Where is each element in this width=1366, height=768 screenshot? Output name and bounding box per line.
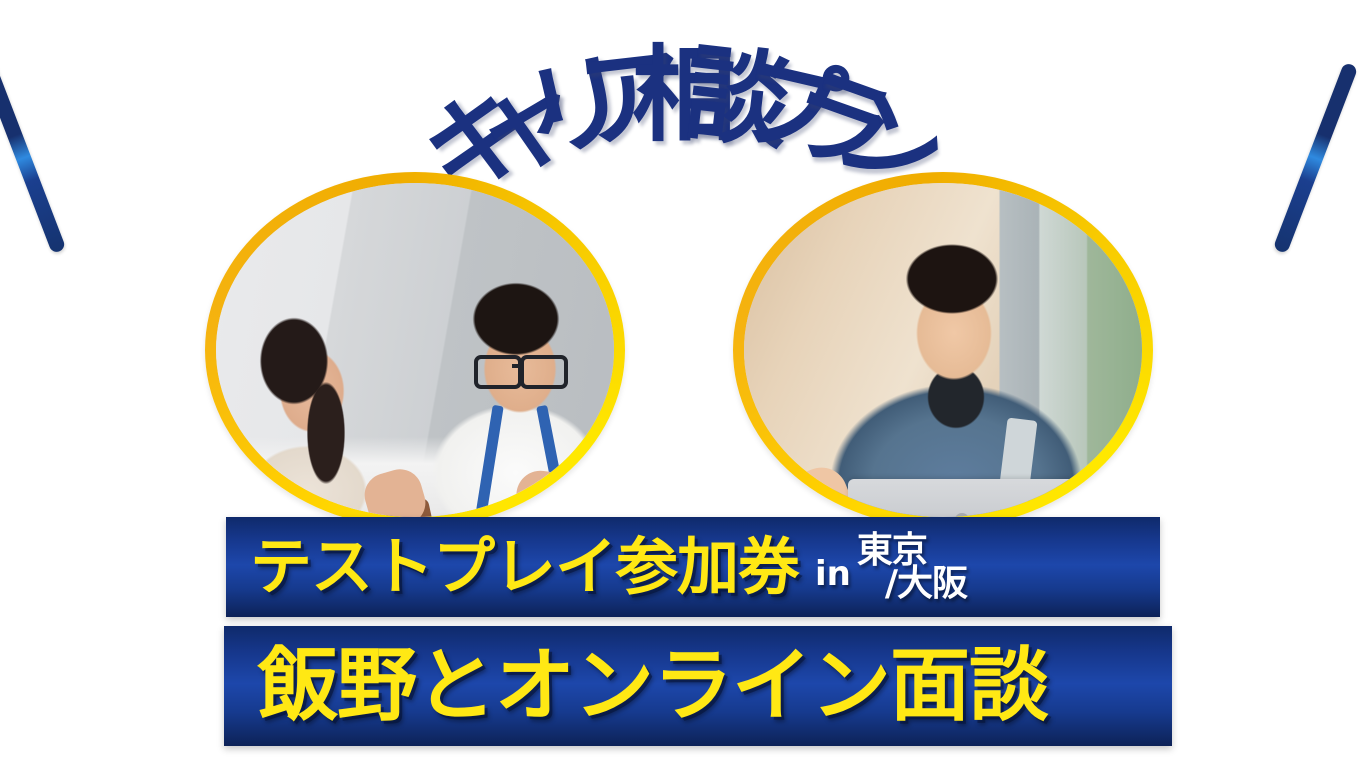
banner-ticket: テストプレイ参加券 in 東京 /大阪 [226, 517, 1160, 617]
banner-ticket-in-label: in [815, 554, 851, 594]
photo-right-hand-right [1061, 469, 1130, 517]
page-title: キャリア相談プラン [0, 5, 1366, 215]
photo-left-ring [205, 172, 625, 528]
photo-left-lanyard-a [475, 405, 503, 517]
banner-interview: 飯野とオンライン面談 [224, 626, 1172, 746]
photo-right-laptop [848, 479, 1080, 517]
photo-right-hand-left [769, 460, 859, 517]
photo-left-image [216, 183, 614, 517]
banner-ticket-label: テストプレイ参加券 [250, 536, 799, 598]
photo-right-image [744, 183, 1142, 517]
banner-ticket-location: in 東京 /大阪 [815, 534, 967, 600]
photo-right-ring [733, 172, 1153, 528]
photo-left [216, 183, 614, 517]
thumbnail-canvas: キャリア相談プラン [0, 0, 1366, 768]
banner-ticket-city-stack: 東京 /大阪 [857, 534, 967, 600]
photo-left-hand-a [359, 464, 430, 517]
photo-left-glasses [474, 355, 570, 383]
photo-right [744, 183, 1142, 517]
banner-interview-label: 飯野とオンライン面談 [258, 646, 1048, 726]
banner-ticket-city-osaka: /大阪 [885, 567, 967, 600]
